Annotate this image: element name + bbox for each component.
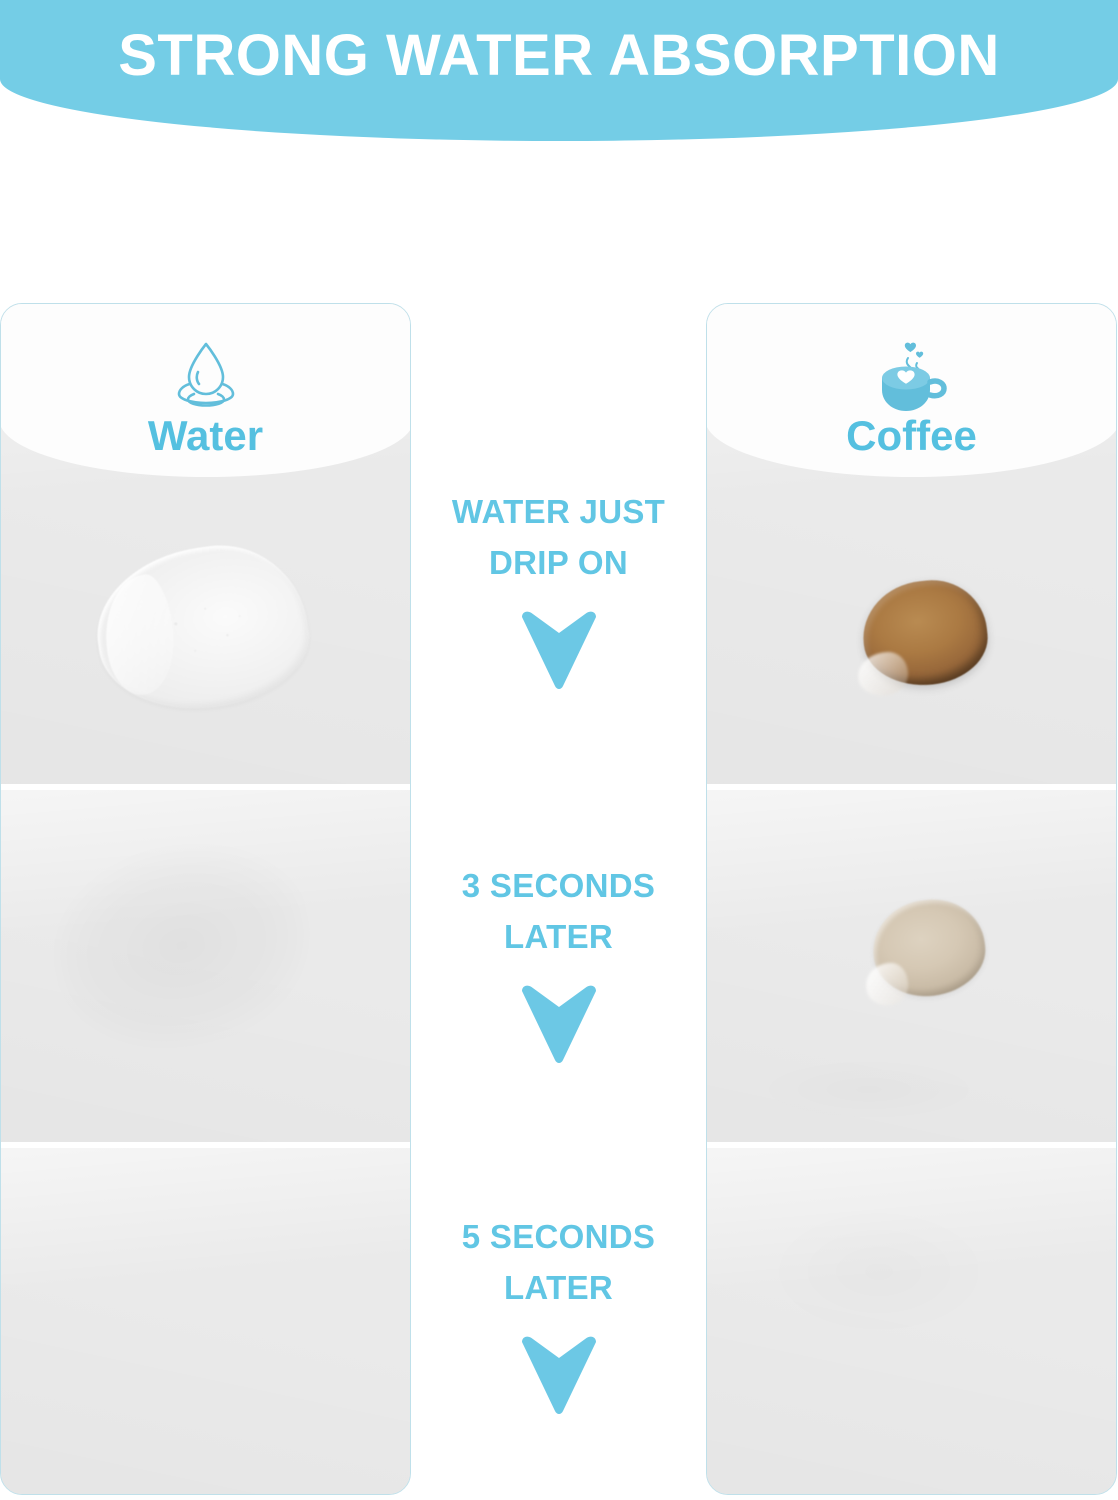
steps-column: WATER JUST DRIP ON 3 SECONDS LATER 5 SEC… (411, 303, 706, 1495)
step-1: WATER JUST DRIP ON (411, 486, 706, 610)
step-2-line-1: 3 SECONDS (411, 860, 706, 911)
water-drop-icon (1, 338, 410, 412)
coffee-row-3s (707, 790, 1117, 1142)
step-1-line-1: WATER JUST (411, 486, 706, 537)
surface-texture (707, 1148, 1117, 1495)
row-divider-1 (707, 784, 1117, 790)
coffee-cup-icon (707, 338, 1116, 416)
step-3-line-2: LATER (411, 1262, 706, 1313)
row-divider-2 (707, 1142, 1117, 1148)
panel-coffee: Coffee (706, 303, 1117, 1495)
coffee-row-5s (707, 1148, 1117, 1495)
step-3: 5 SECONDS LATER (411, 1211, 706, 1335)
water-row-5s (1, 1148, 411, 1495)
infographic-page: STRONG WATER ABSORPTION Water (0, 0, 1118, 1500)
step-3-line-1: 5 SECONDS (411, 1211, 706, 1262)
panel-label-water: Water (1, 412, 410, 460)
water-row-3s (1, 790, 411, 1142)
surface-texture (1, 1148, 411, 1495)
panel-label-coffee: Coffee (707, 412, 1116, 460)
panel-water: Water (0, 303, 411, 1495)
header-banner: STRONG WATER ABSORPTION (0, 0, 1118, 141)
page-title: STRONG WATER ABSORPTION (0, 26, 1118, 87)
row-divider-1 (1, 784, 411, 790)
row-divider-2 (1, 1142, 411, 1148)
step-2: 3 SECONDS LATER (411, 860, 706, 984)
step-1-line-2: DRIP ON (411, 537, 706, 588)
step-2-line-2: LATER (411, 911, 706, 962)
